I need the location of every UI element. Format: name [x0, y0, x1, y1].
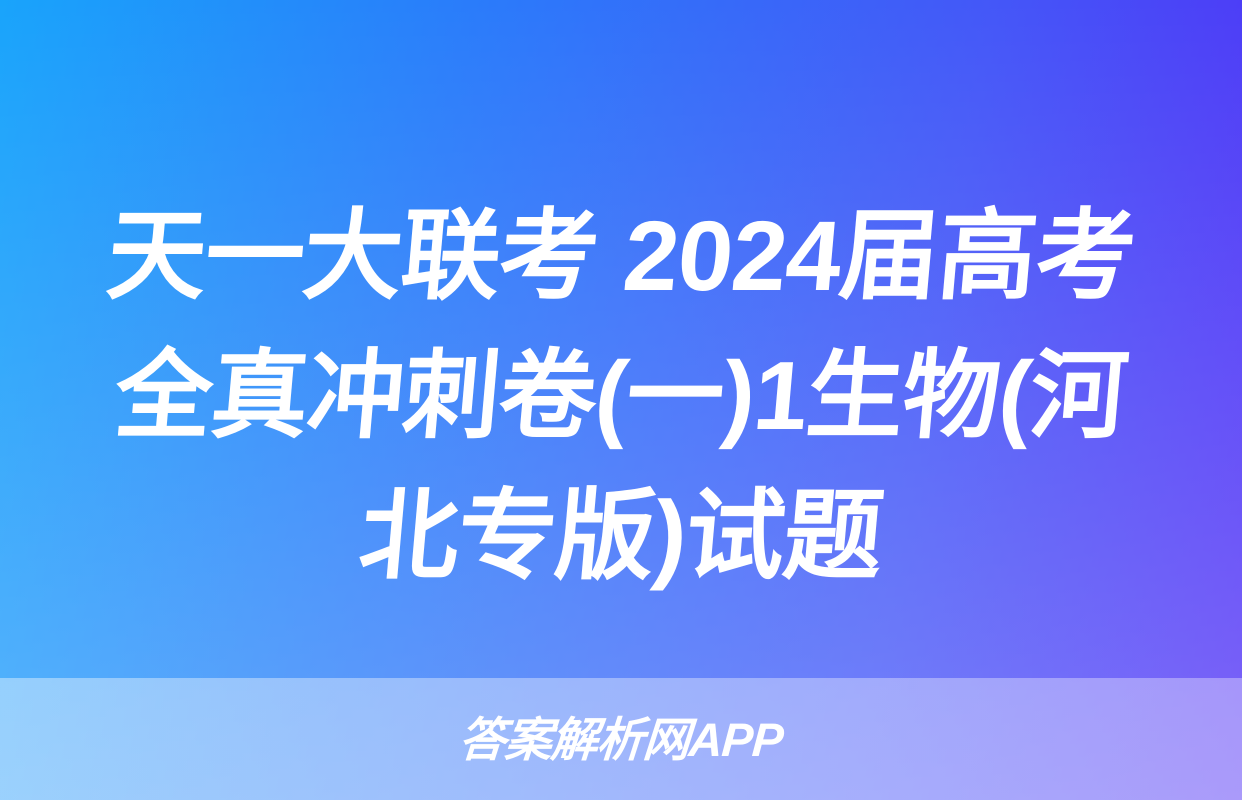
app-watermark-label: 答案解析网APP — [458, 716, 785, 763]
poster-title: 天一大联考 2024届高考 全真冲刺卷(一)1生物(河 北专版)试题 — [0, 186, 1242, 606]
watermark-band: 答案解析网APP — [0, 678, 1242, 800]
poster-title-line-3: 北专版)试题 — [46, 466, 1196, 606]
poster-title-line-1: 天一大联考 2024届高考 — [46, 186, 1196, 326]
poster-title-line-2: 全真冲刺卷(一)1生物(河 — [46, 326, 1196, 466]
exam-cover-poster: 天一大联考 2024届高考 全真冲刺卷(一)1生物(河 北专版)试题 答案解析网… — [0, 0, 1242, 800]
